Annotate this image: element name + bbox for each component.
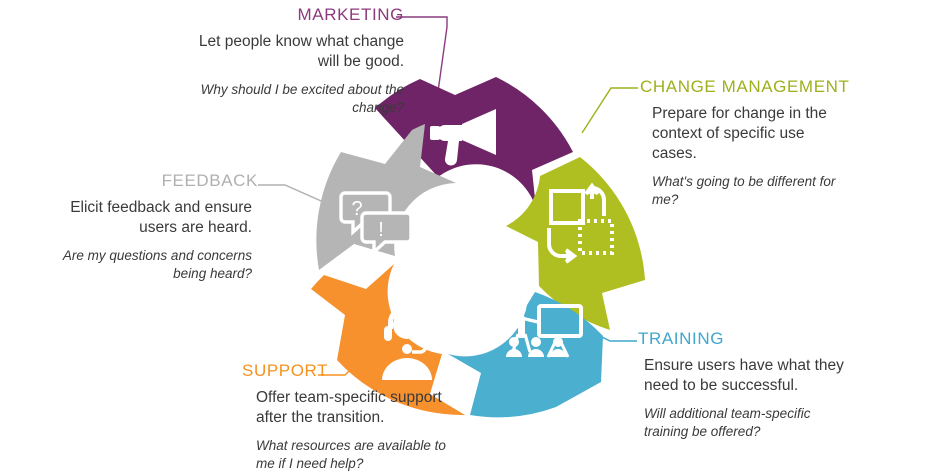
callout-change-management-body: Prepare for change in the context of spe… — [652, 104, 840, 164]
callout-feedback-body: Elicit feedback and ensure users are hea… — [62, 198, 252, 238]
callout-feedback-heading: FEEDBACK — [62, 172, 258, 191]
callout-change-management: CHANGE MANAGEMENT Prepare for change in … — [640, 78, 870, 208]
callout-training-body: Ensure users have what they need to be s… — [644, 356, 844, 396]
diagram-canvas: ? ! MARKETING Let people know what chang… — [0, 0, 948, 474]
callout-support-body: Offer team-specific support after the tr… — [256, 388, 466, 428]
callout-marketing-heading: MARKETING — [196, 6, 404, 25]
callout-feedback-question: Are my questions and concerns being hear… — [62, 247, 252, 282]
callout-marketing-question: Why should I be excited about the change… — [196, 81, 404, 116]
callout-support-heading: SUPPORT — [242, 362, 472, 381]
callout-training-heading: TRAINING — [638, 330, 868, 349]
callout-feedback: FEEDBACK Elicit feedback and ensure user… — [62, 172, 258, 282]
callout-change-management-heading: CHANGE MANAGEMENT — [640, 78, 870, 97]
callout-support-question: What resources are available to me if I … — [256, 437, 452, 472]
callout-change-management-question: What's going to be different for me? — [652, 173, 848, 208]
connector-change-management — [582, 88, 638, 133]
callout-support: SUPPORT Offer team-specific support afte… — [242, 362, 472, 472]
callout-training-question: Will additional team-specific training b… — [644, 405, 840, 440]
callout-training: TRAINING Ensure users have what they nee… — [638, 330, 868, 440]
callout-marketing: MARKETING Let people know what change wi… — [196, 6, 404, 116]
svg-text:!: ! — [378, 219, 384, 241]
callout-marketing-body: Let people know what change will be good… — [196, 32, 404, 72]
